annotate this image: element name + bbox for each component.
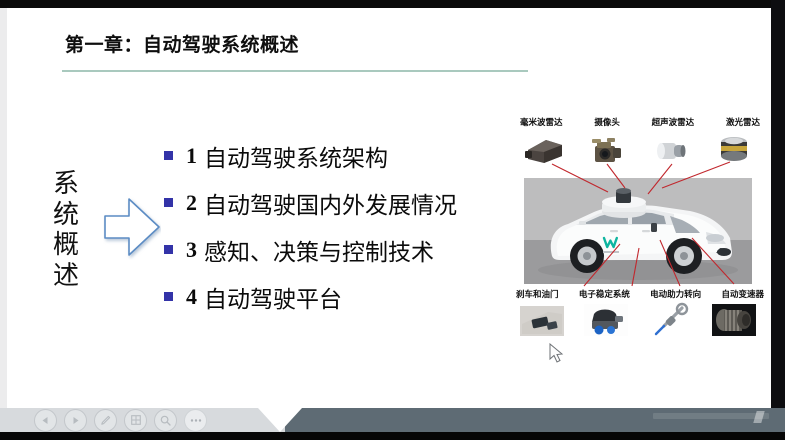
brake-throttle-image bbox=[518, 300, 566, 340]
next-slide-button[interactable] bbox=[64, 409, 87, 432]
autonomous-vehicle-diagram: 毫米波雷达 摄像头 超声波雷达 激光雷达 bbox=[512, 108, 764, 350]
presentation-window: 第一章：自动驾驶系统概述 系 统 概 述 1 自动驾驶系统架构 bbox=[0, 0, 785, 440]
window-right-strip bbox=[771, 0, 785, 440]
list-item-label: 自动驾驶系统架构 bbox=[204, 139, 388, 173]
all-slides-button[interactable] bbox=[124, 409, 147, 432]
list-item[interactable]: 4 自动驾驶平台 bbox=[164, 273, 514, 320]
window-left-strip bbox=[0, 8, 7, 432]
eps-column-image bbox=[646, 300, 694, 340]
presenter-toolbar bbox=[0, 408, 785, 432]
list-item-number: 2 bbox=[186, 190, 197, 216]
actuator-label-transmission: 自动变速器 bbox=[721, 288, 764, 300]
list-item[interactable]: 2 自动驾驶国内外发展情况 bbox=[164, 179, 514, 226]
window-bottom-letterbox bbox=[0, 432, 785, 440]
zoom-tool-button[interactable] bbox=[154, 409, 177, 432]
sensor-label-radar: 毫米波雷达 bbox=[520, 116, 563, 128]
list-item-label: 自动驾驶平台 bbox=[204, 280, 342, 314]
sensor-label-camera: 摄像头 bbox=[594, 116, 620, 128]
actuator-label-row: 刹车和油门 电子稳定系统 电动助力转向 自动变速器 bbox=[516, 288, 764, 300]
toolbar-right-background bbox=[285, 408, 785, 432]
list-item-number: 3 bbox=[186, 237, 197, 263]
list-item[interactable]: 1 自动驾驶系统架构 bbox=[164, 132, 514, 179]
agenda-list: 1 自动驾驶系统架构 2 自动驾驶国内外发展情况 3 感知、决策与控制技术 4 … bbox=[164, 132, 514, 320]
more-options-button[interactable] bbox=[184, 409, 207, 432]
toolbar-right-accent bbox=[653, 413, 769, 419]
right-arrow-icon bbox=[103, 194, 161, 260]
radar-module-image bbox=[520, 130, 568, 170]
bullet-square-icon bbox=[164, 151, 173, 160]
pen-tool-button[interactable] bbox=[94, 409, 117, 432]
sensor-label-ultrasonic: 超声波雷达 bbox=[652, 116, 695, 128]
sensor-thumbnail-row bbox=[520, 130, 758, 170]
window-top-letterbox bbox=[0, 0, 785, 8]
transmission-image bbox=[710, 300, 758, 340]
previous-slide-button[interactable] bbox=[34, 409, 57, 432]
list-item-label: 感知、决策与控制技术 bbox=[204, 233, 434, 267]
page-title: 第一章：自动驾驶系统概述 bbox=[65, 30, 299, 57]
sensor-label-lidar: 激光雷达 bbox=[726, 116, 760, 128]
camera-module-image bbox=[583, 130, 631, 170]
ultrasonic-sensor-image bbox=[647, 130, 695, 170]
list-item[interactable]: 3 感知、决策与控制技术 bbox=[164, 226, 514, 273]
list-item-number: 1 bbox=[186, 143, 197, 169]
actuator-label-brake-throttle: 刹车和油门 bbox=[516, 288, 559, 300]
list-item-label: 自动驾驶国内外发展情况 bbox=[204, 186, 457, 220]
section-label-vertical: 系 统 概 述 bbox=[45, 168, 87, 291]
slide-canvas: 第一章：自动驾驶系统概述 系 统 概 述 1 自动驾驶系统架构 bbox=[7, 8, 771, 420]
sensor-label-row: 毫米波雷达 摄像头 超声波雷达 激光雷达 bbox=[520, 116, 760, 128]
toolbar-notch bbox=[258, 408, 302, 432]
toolbar-button-group bbox=[34, 408, 207, 432]
title-divider bbox=[62, 70, 528, 72]
actuator-label-esc: 电子稳定系统 bbox=[579, 288, 630, 300]
mouse-cursor bbox=[549, 343, 565, 365]
vehicle-photo bbox=[524, 178, 752, 284]
actuator-label-eps: 电动助力转向 bbox=[650, 288, 701, 300]
lidar-unit-image bbox=[710, 130, 758, 170]
esc-module-image bbox=[582, 300, 630, 340]
bullet-square-icon bbox=[164, 245, 173, 254]
bullet-square-icon bbox=[164, 198, 173, 207]
bullet-square-icon bbox=[164, 292, 173, 301]
list-item-number: 4 bbox=[186, 284, 197, 310]
actuator-thumbnail-row bbox=[518, 300, 758, 340]
